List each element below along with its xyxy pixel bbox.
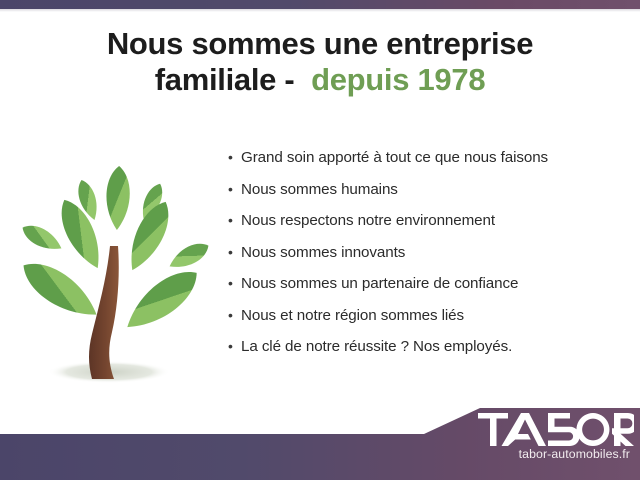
benefits-list: Grand soin apporté à tout ce que nous fa… (228, 148, 628, 369)
list-item-label: La clé de notre réussite ? Nos employés. (241, 337, 512, 356)
list-item-label: Nous sommes humains (241, 180, 398, 199)
list-item: Grand soin apporté à tout ce que nous fa… (228, 148, 628, 167)
list-item-label: Grand soin apporté à tout ce que nous fa… (241, 148, 548, 167)
top-accent-bar (0, 0, 640, 9)
bullet-icon (228, 243, 241, 262)
bullet-icon (228, 337, 241, 356)
page-title: Nous sommes une entreprise familiale - d… (30, 26, 610, 98)
list-item: Nous sommes un partenaire de confiance (228, 274, 628, 293)
list-item: La clé de notre réussite ? Nos employés. (228, 337, 628, 356)
bullet-icon (228, 211, 241, 230)
list-item-label: Nous sommes innovants (241, 243, 405, 262)
slide-canvas: Nous sommes une entreprise familiale - d… (0, 0, 640, 480)
page-title-line-2: familiale - depuis 1978 (30, 62, 610, 98)
bullet-icon (228, 306, 241, 325)
tree-icon (8, 150, 223, 395)
brand-logo[interactable]: tabor-automobiles.fr (478, 413, 638, 471)
page-title-accent: depuis 1978 (311, 62, 485, 97)
brand-tagline: tabor-automobiles.fr (478, 447, 634, 461)
tabor-wordmark-icon (478, 413, 634, 446)
top-accent-bar-shadow (0, 9, 640, 12)
bullet-icon (228, 180, 241, 199)
list-item-label: Nous et notre région sommes liés (241, 306, 464, 325)
list-item-label: Nous sommes un partenaire de confiance (241, 274, 518, 293)
list-item: Nous sommes humains (228, 180, 628, 199)
list-item: Nous respectons notre environnement (228, 211, 628, 230)
bullet-icon (228, 274, 241, 293)
list-item: Nous et notre région sommes liés (228, 306, 628, 325)
list-item-label: Nous respectons notre environnement (241, 211, 495, 230)
page-title-line-1: Nous sommes une entreprise (30, 26, 610, 62)
list-item: Nous sommes innovants (228, 243, 628, 262)
bullet-icon (228, 148, 241, 167)
page-title-line-2-black: familiale - (155, 62, 295, 97)
tree-illustration (8, 150, 223, 395)
